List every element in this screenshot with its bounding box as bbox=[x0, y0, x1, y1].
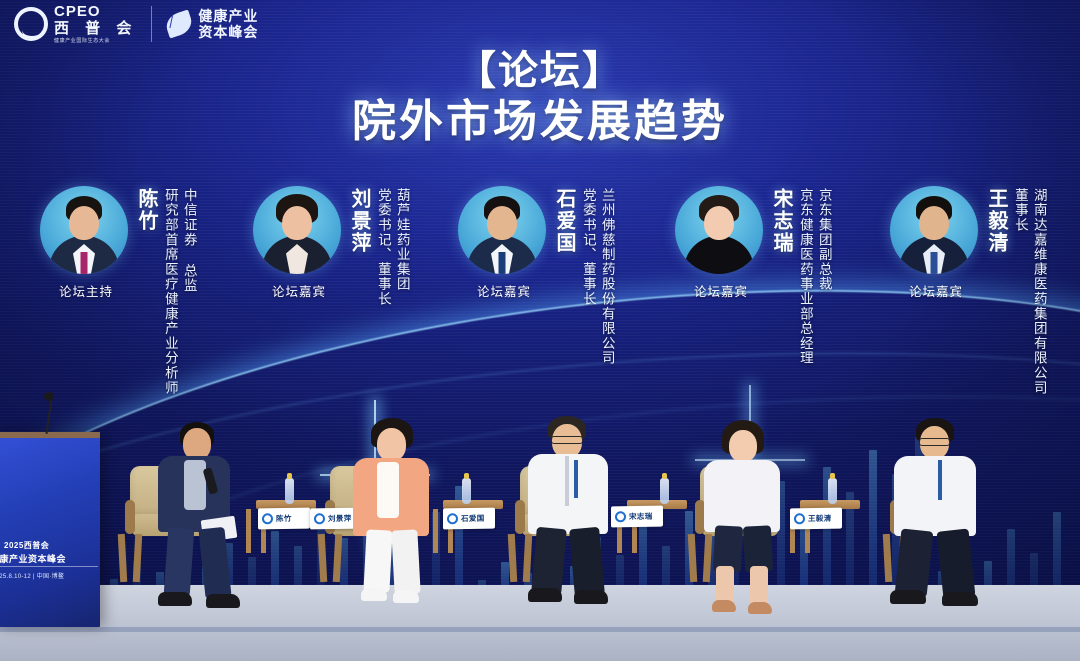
forum-title-bracketed: 【论坛】 bbox=[0, 48, 1080, 94]
panelist-card: 论坛嘉宾 刘景萍 葫芦娃药业集团 党委书记、董事长 bbox=[253, 186, 410, 306]
leaf-icon bbox=[164, 10, 196, 39]
panelist-title-block: 兰州佛慈制药股份有限公司 党委书记、董事长 bbox=[577, 188, 615, 366]
podium-line2: 健康产业资本峰会 bbox=[0, 552, 66, 565]
panelist-card: 论坛嘉宾 王毅清 湖南达嘉维康医药集团有限公司 董事长 bbox=[890, 186, 1047, 395]
avatar bbox=[458, 186, 546, 274]
event-logo-bar: CPEO 西 普 会 健康产业国际生态大会 健康产业 资本峰会 bbox=[14, 4, 258, 44]
eyeglasses-icon bbox=[551, 436, 583, 444]
panelist-role: 论坛嘉宾 bbox=[890, 281, 982, 300]
panelist-title-line2: 党委书记、董事长 bbox=[374, 188, 391, 306]
panelist-card: 论坛主持 陈竹 中信证券 总监 研究部首席医疗健康产业分析师 bbox=[40, 186, 197, 395]
panelist-role: 论坛嘉宾 bbox=[675, 281, 767, 300]
avatar bbox=[890, 186, 978, 274]
plate-logo-icon bbox=[314, 513, 325, 524]
panelist-card: 论坛嘉宾 石爱国 兰州佛慈制药股份有限公司 党委书记、董事长 bbox=[458, 186, 615, 366]
panelist-card-list: 论坛主持 陈竹 中信证券 总监 研究部首席医疗健康产业分析师 论坛嘉宾 刘景萍 … bbox=[0, 186, 1080, 426]
panelist-title-line2: 京东健康医药事业部总经理 bbox=[796, 188, 813, 366]
forum-title-main: 院外市场发展趋势 bbox=[0, 96, 1080, 149]
panelist-title-line1: 兰州佛慈制药股份有限公司 bbox=[598, 188, 615, 366]
lanyard bbox=[938, 460, 942, 500]
conference-stage-photo: CPEO 西 普 会 健康产业国际生态大会 健康产业 资本峰会 【论坛】 院外市… bbox=[0, 0, 1080, 661]
avatar bbox=[40, 186, 128, 274]
panelist-title-block: 中信证券 总监 研究部首席医疗健康产业分析师 bbox=[159, 188, 197, 395]
panelist-role: 论坛嘉宾 bbox=[458, 281, 550, 300]
panelist-avatar-block: 论坛嘉宾 bbox=[890, 186, 982, 300]
seated-person-3 bbox=[522, 416, 642, 621]
panelist-name: 陈竹 bbox=[136, 188, 156, 232]
panelist-title-line1: 湖南达嘉维康医药集团有限公司 bbox=[1030, 188, 1047, 395]
podium-line3: 2025.8.10-12 | 中国·博鳌 bbox=[0, 571, 64, 580]
podium-rule bbox=[0, 566, 98, 567]
panelist-title-block: 湖南达嘉维康医药集团有限公司 董事长 bbox=[1009, 188, 1047, 395]
cpeo-logo-cn: 西 普 会 bbox=[54, 21, 137, 36]
seated-person-4 bbox=[696, 420, 816, 620]
panelist-card: 论坛嘉宾 宋志瑞 京东集团副总裁 京东健康医药事业部总经理 bbox=[675, 186, 832, 366]
panelist-title-line1: 中信证券 总监 bbox=[180, 188, 197, 395]
panelist-name: 宋志瑞 bbox=[771, 188, 791, 254]
seated-person-2 bbox=[345, 418, 465, 618]
panelist-title-line2: 党委书记、董事长 bbox=[579, 188, 596, 366]
panelist-role: 论坛嘉宾 bbox=[253, 281, 345, 300]
podium: 2025西普会 健康产业资本峰会 2025.8.10-12 | 中国·博鳌 bbox=[0, 432, 100, 627]
cpeo-logo-abbr: CPEO bbox=[54, 4, 137, 19]
avatar bbox=[253, 186, 341, 274]
panelist-avatar-block: 论坛主持 bbox=[40, 186, 132, 300]
panelist-title-block: 葫芦娃药业集团 党委书记、董事长 bbox=[372, 188, 410, 306]
logo-divider bbox=[151, 6, 152, 42]
cpeo-ring-icon bbox=[14, 7, 48, 41]
panelist-title-line1: 葫芦娃药业集团 bbox=[393, 188, 410, 306]
seated-person-5 bbox=[888, 418, 1013, 623]
summit-logo-line1: 健康产业 bbox=[198, 8, 258, 24]
panelist-title-block: 京东集团副总裁 京东健康医药事业部总经理 bbox=[794, 188, 832, 366]
panelist-avatar-block: 论坛嘉宾 bbox=[253, 186, 345, 300]
panelist-title-line2: 研究部首席医疗健康产业分析师 bbox=[161, 188, 178, 395]
panelist-title-line1: 京东集团副总裁 bbox=[815, 188, 832, 366]
panelist-name: 石爱国 bbox=[554, 188, 574, 254]
panelist-role: 论坛主持 bbox=[40, 281, 132, 300]
panelist-avatar-block: 论坛嘉宾 bbox=[458, 186, 550, 300]
cpeo-logo-sub: 健康产业国际生态大会 bbox=[54, 39, 137, 44]
cpeo-logo: CPEO 西 普 会 健康产业国际生态大会 bbox=[14, 4, 137, 44]
summit-logo-line2: 资本峰会 bbox=[198, 24, 258, 40]
panelist-name: 刘景萍 bbox=[349, 188, 369, 254]
eyeglasses-icon bbox=[919, 438, 950, 446]
water-bottle bbox=[660, 478, 669, 504]
panelist-avatar-block: 论坛嘉宾 bbox=[675, 186, 767, 300]
plate-name: 陈竹 bbox=[276, 513, 292, 524]
water-bottle bbox=[828, 478, 837, 504]
water-bottle bbox=[285, 478, 294, 504]
podium-line1: 2025西普会 bbox=[4, 540, 49, 551]
podium-top bbox=[0, 432, 100, 438]
seated-person-moderator bbox=[150, 420, 270, 620]
microphone-icon bbox=[44, 392, 54, 401]
panelist-title-line2: 董事长 bbox=[1011, 188, 1028, 395]
forum-title-block: 【论坛】 院外市场发展趋势 bbox=[0, 48, 1080, 149]
avatar bbox=[675, 186, 763, 274]
lanyard bbox=[574, 460, 578, 498]
health-capital-summit-logo: 健康产业 资本峰会 bbox=[166, 8, 258, 40]
panelist-name: 王毅清 bbox=[986, 188, 1006, 254]
